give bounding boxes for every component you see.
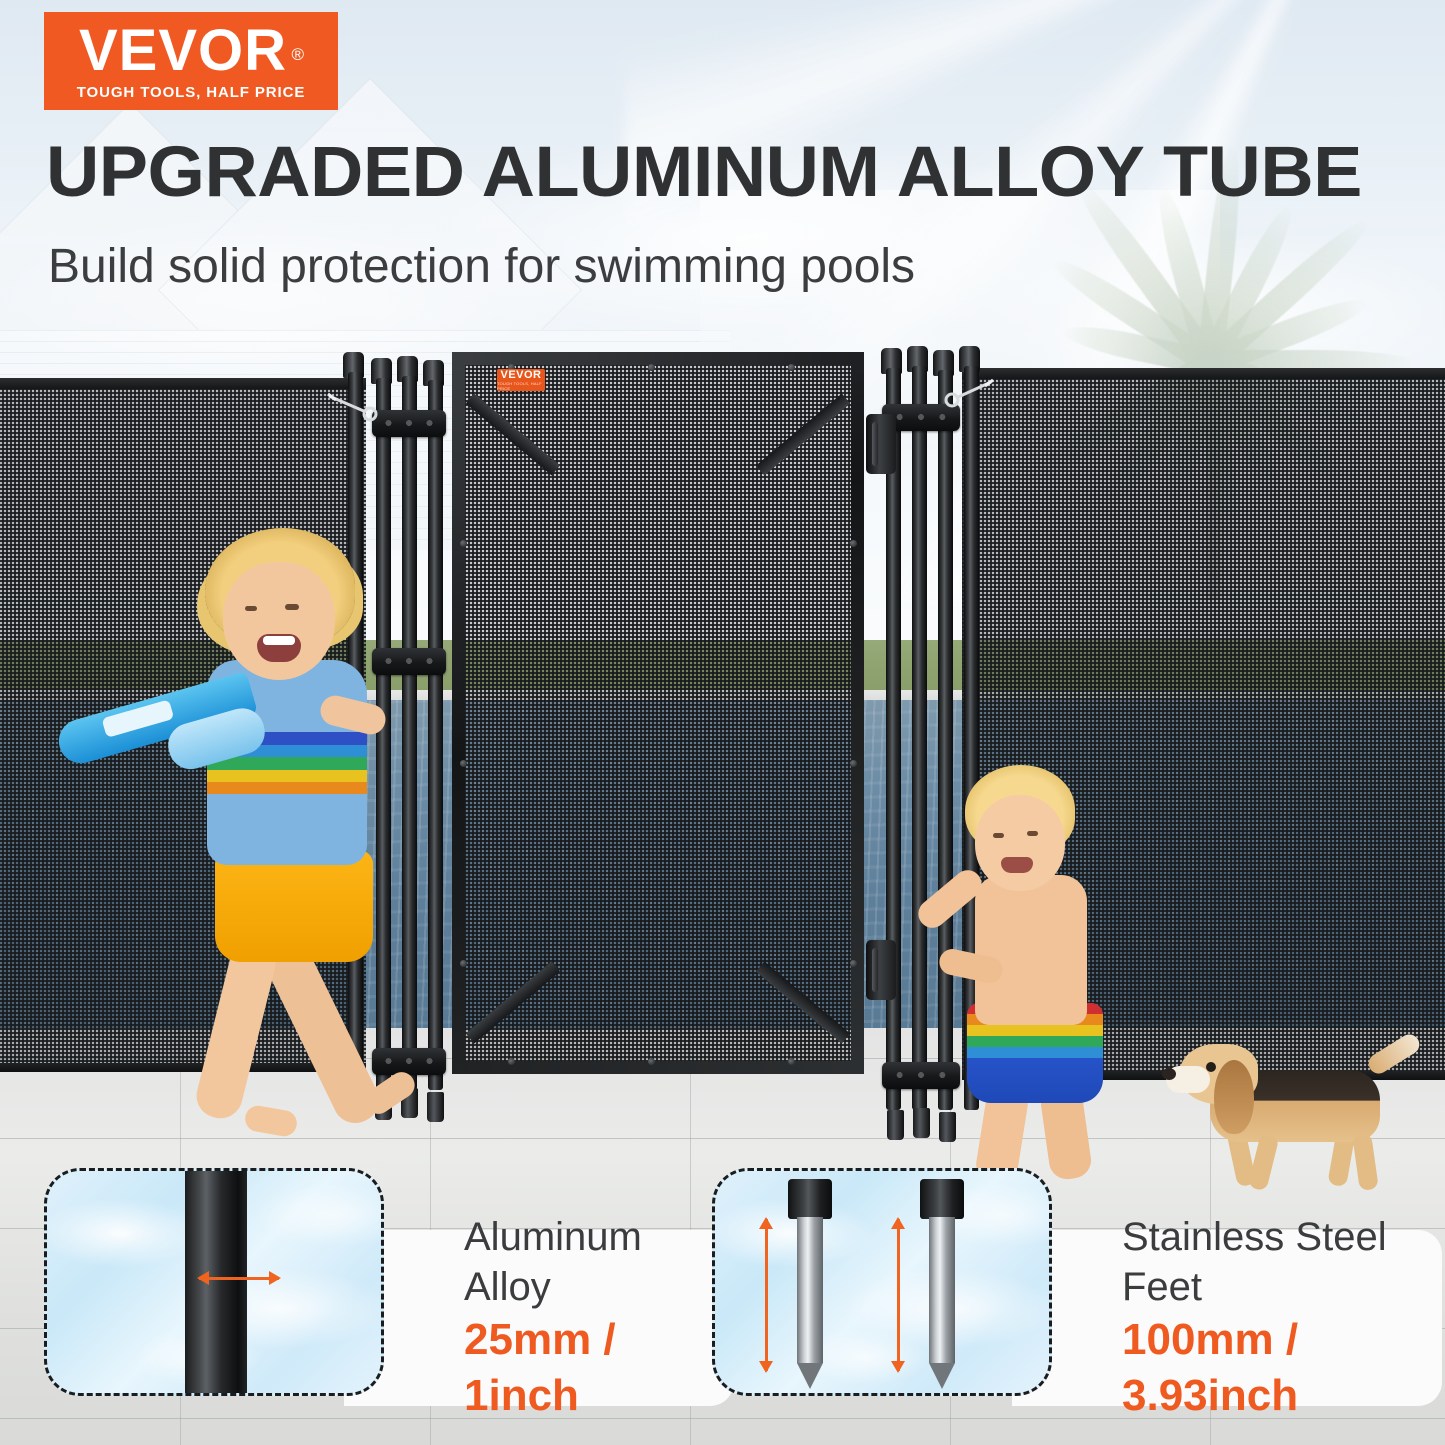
gate-hinge-top: [866, 414, 896, 474]
vevor-logo: VEVOR ® TOUGH TOOLS, HALF PRICE: [44, 12, 338, 110]
product-tag-subtext: TOUGH TOOLS, HALF PRICE: [497, 381, 545, 391]
gate-screw: [460, 540, 467, 547]
gate-screw: [850, 960, 857, 967]
aluminum-tube-illustration: [185, 1168, 247, 1396]
beagle-dog: [1180, 1030, 1445, 1190]
gate-screw: [648, 364, 655, 371]
registered-trademark-icon: ®: [292, 26, 306, 84]
callout-value: 100mm / 3.93inch: [1122, 1312, 1442, 1424]
callout-image-feet: [712, 1168, 1052, 1396]
callout-text-panel: Aluminum Alloy 25mm / 1inch: [344, 1230, 734, 1406]
product-tag-name: VEVOR: [500, 370, 541, 381]
length-arrow-icon: [897, 1219, 900, 1371]
brand-name-text: VEVOR: [79, 18, 287, 83]
toddler-face: [975, 795, 1065, 891]
callout-title: Stainless Steel Feet: [1122, 1212, 1442, 1312]
page-headline: UPGRADED ALUMINUM ALLOY TUBE: [46, 136, 1367, 210]
brand-name: VEVOR ®: [79, 22, 303, 80]
gate-screw: [460, 760, 467, 767]
gate-screw: [788, 1058, 795, 1065]
toddler-child: [945, 765, 1215, 1185]
product-vevor-tag: VEVOR TOUGH TOOLS, HALF PRICE: [497, 369, 545, 391]
callout-image-tube: [44, 1168, 384, 1396]
fence-post: [912, 366, 927, 1110]
gate-screw: [850, 540, 857, 547]
diameter-arrow-icon: [199, 1277, 279, 1280]
gate-hinge-bottom: [866, 940, 896, 1000]
child-with-water-gun: [95, 520, 455, 1170]
brand-tagline: TOUGH TOOLS, HALF PRICE: [77, 84, 306, 101]
gate-screw: [508, 1058, 515, 1065]
callout-text-panel: Stainless Steel Feet 100mm / 3.93inch: [1012, 1230, 1442, 1406]
gate-screw: [648, 1058, 655, 1065]
gate-frame[interactable]: [452, 352, 864, 1074]
gate-screw: [460, 960, 467, 967]
gate-screw: [788, 364, 795, 371]
yellow-swim-shorts: [215, 850, 373, 962]
gate-screw: [850, 760, 857, 767]
post-clamp: [372, 410, 446, 437]
page-subheadline: Build solid protection for swimming pool…: [48, 238, 1248, 296]
length-arrow-icon: [765, 1219, 768, 1371]
callout-title: Aluminum Alloy: [464, 1212, 734, 1312]
product-marketing-image: VEVOR TOUGH TOOLS, HALF PRICE: [0, 0, 1445, 1445]
callout-value: 25mm / 1inch: [464, 1312, 734, 1424]
